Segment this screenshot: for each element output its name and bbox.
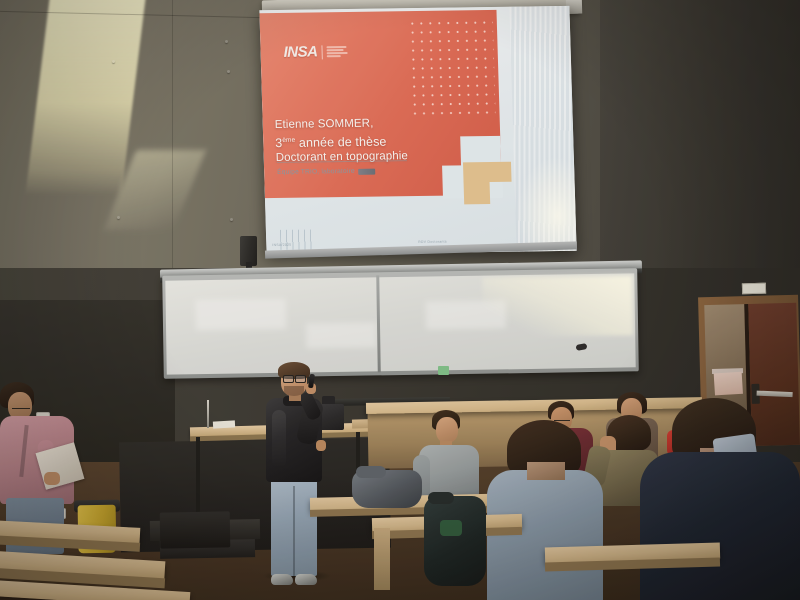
door-notice-paper <box>714 372 743 396</box>
assistant-hand <box>44 472 60 485</box>
slide-tan-shape <box>463 162 512 205</box>
slide-tan-shape-leg <box>463 180 490 204</box>
presenter-trouser-seam <box>293 486 295 576</box>
presenter-shoe-right <box>295 574 317 585</box>
assistant-glasses <box>12 404 30 409</box>
presenter-table-leg <box>196 437 200 515</box>
slide-title-line3: Doctorant en topographie <box>276 149 409 166</box>
backpack-black-handle <box>428 492 454 504</box>
glasses-lens-left <box>283 375 294 383</box>
whiteboard <box>162 268 639 378</box>
wall-seam-vertical <box>172 0 173 272</box>
wall-screw <box>225 40 228 43</box>
wall-screw <box>117 216 120 219</box>
insa-logo-divider <box>321 45 322 59</box>
whiteboard-smudge <box>196 299 286 330</box>
wall-screw <box>227 70 230 73</box>
audience-navy-jumper <box>640 452 800 600</box>
insa-logo: INSA <box>283 43 347 61</box>
presenter-beard <box>284 386 304 396</box>
presenter-shoe-left <box>271 574 293 585</box>
whiteboard-magnet-clip <box>438 366 449 375</box>
bench-support-panel <box>374 528 390 590</box>
wall-screw <box>230 218 233 221</box>
glasses-lens-right <box>295 375 306 383</box>
wall-screw <box>112 60 115 63</box>
whiteboard-sun-glare <box>482 275 633 337</box>
desk-lamp-stem <box>207 400 209 428</box>
presenter-trousers <box>271 478 317 576</box>
slide-title-line2-rest: année de thèse <box>295 135 387 150</box>
backpack-grey-handle <box>356 466 386 478</box>
paper-on-table <box>213 420 235 428</box>
slide-footer-center: RDV Doctorants <box>418 240 447 244</box>
presenter-hand-lower <box>316 440 326 451</box>
presenter-jacket-highlight <box>272 410 286 468</box>
audience-grey-head <box>436 417 458 443</box>
presenter-glasses <box>283 375 306 381</box>
whiteboard-smudge <box>306 322 376 348</box>
lab-logo-icon <box>358 168 375 174</box>
slide-title: Etienne SOMMER, 3ème année de thèse Doct… <box>275 116 409 166</box>
exit-sign <box>742 283 766 295</box>
stage-edge-block <box>160 511 231 548</box>
backpack-black-green <box>424 496 486 586</box>
audience-maroon-glasses <box>554 416 570 421</box>
backpack-green-patch <box>440 520 462 536</box>
screen-light-glare <box>514 156 577 255</box>
whiteboard-surface <box>165 273 635 374</box>
wall-shadow-right <box>600 0 800 275</box>
slide-subtitle-text: Équipe TRIO, laboratoire <box>277 168 355 176</box>
slide-footer-left: INSA/2025 <box>272 243 291 247</box>
insa-wordmark: INSA <box>283 43 317 60</box>
lecture-hall-scene: INSA Etienne SOMMER, 3ème année de thèse… <box>0 0 800 600</box>
projection-screen: INSA Etienne SOMMER, 3ème année de thèse… <box>259 6 576 255</box>
slide-title-ordinal-suffix: ème <box>282 137 295 144</box>
slide-subtitle: Équipe TRIO, laboratoire <box>277 168 375 176</box>
audience-center-neck <box>527 462 565 480</box>
slide-title-line2: 3ème année de thèse <box>275 131 408 151</box>
insa-logo-sublines <box>326 46 347 57</box>
slide-dot-pattern <box>408 18 496 119</box>
door-leaf-right[interactable] <box>748 303 800 446</box>
